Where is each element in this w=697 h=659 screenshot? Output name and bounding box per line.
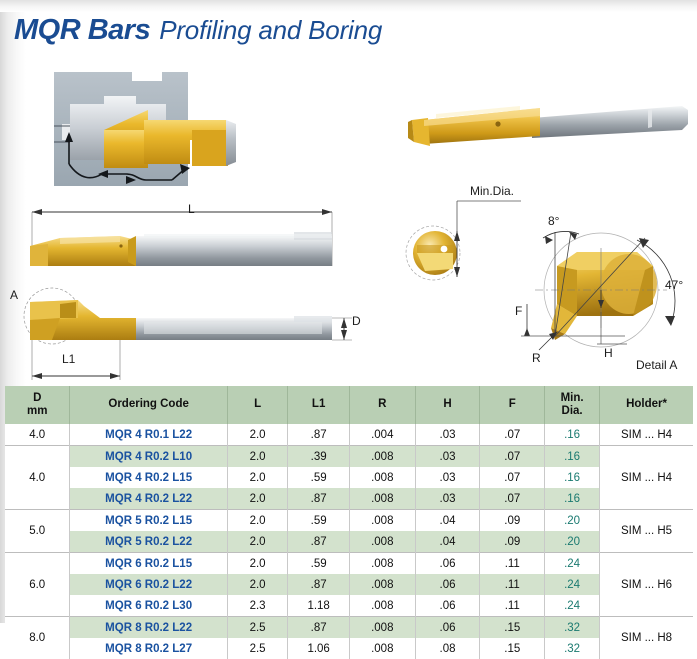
cell-length-l: 2.0 (227, 510, 288, 532)
cell-min-diameter: .24 (545, 574, 600, 595)
bar-3d-render-figure (400, 94, 690, 164)
cell-ordering-code: MQR 4 R0.2 L10 (70, 446, 227, 468)
table-header-cell: Holder* (600, 386, 693, 424)
cell-length-l: 2.0 (227, 446, 288, 468)
specification-table: DmmOrdering CodeLL1RHFMin.Dia.Holder* 4.… (5, 386, 693, 659)
cell-min-diameter: .20 (545, 531, 600, 553)
dimension-label-A: A (10, 288, 18, 302)
cell-radius-r: .008 (349, 553, 415, 575)
cell-min-diameter: .32 (545, 638, 600, 659)
cell-length-l1: .39 (288, 446, 350, 468)
table-row[interactable]: MQR 6 R0.2 L222.0.87.008.06.11.24 (5, 574, 693, 595)
cell-height-h: .06 (415, 574, 480, 595)
workpiece-cross-section-figure (40, 68, 310, 193)
cell-radius-r: .008 (349, 488, 415, 510)
table-header-row: DmmOrdering CodeLL1RHFMin.Dia.Holder* (5, 386, 693, 424)
cell-min-diameter: .24 (545, 595, 600, 617)
cell-radius-r: .008 (349, 595, 415, 617)
cell-radius-r: .008 (349, 617, 415, 639)
table-row[interactable]: MQR 8 R0.2 L272.51.06.008.08.15.32 (5, 638, 693, 659)
cell-length-l1: .87 (288, 531, 350, 553)
cell-length-l1: 1.18 (288, 595, 350, 617)
cell-length-l: 2.0 (227, 574, 288, 595)
angle-label-47deg: 47° (665, 278, 683, 292)
cell-radius-r: .008 (349, 446, 415, 468)
cell-height-h: .06 (415, 617, 480, 639)
dimension-label-R: R (532, 351, 541, 365)
header-text: H (418, 398, 478, 411)
angle-label-8deg: 8° (548, 214, 559, 228)
dimension-label-D: D (352, 314, 361, 328)
table-header-cell: Dmm (5, 386, 70, 424)
cell-radius-r: .008 (349, 574, 415, 595)
header-text: D (7, 392, 67, 405)
cell-ordering-code: MQR 4 R0.1 L22 (70, 424, 227, 446)
cell-height-h: .04 (415, 510, 480, 532)
cell-height-h: .04 (415, 531, 480, 553)
cell-holder: SIM ... H4 (600, 446, 693, 510)
cell-ordering-code: MQR 4 R0.2 L15 (70, 467, 227, 488)
cell-min-diameter: .16 (545, 446, 600, 468)
header-text: Min. (547, 392, 597, 405)
cell-ordering-code: MQR 8 R0.2 L27 (70, 638, 227, 659)
cell-height-h: .03 (415, 467, 480, 488)
cell-holder: SIM ... H4 (600, 424, 693, 446)
cell-length-l1: .87 (288, 424, 350, 446)
cell-length-l1: .87 (288, 617, 350, 639)
cell-f: .07 (480, 424, 545, 446)
specification-table-wrapper: DmmOrdering CodeLL1RHFMin.Dia.Holder* 4.… (5, 386, 693, 659)
cell-min-diameter: .16 (545, 488, 600, 510)
cell-length-l: 2.0 (227, 424, 288, 446)
min-dia-label: Min.Dia. (470, 184, 514, 198)
page-title-subtitle: Profiling and Boring (159, 15, 382, 45)
cell-diameter: 5.0 (5, 510, 70, 553)
cell-ordering-code: MQR 6 R0.2 L15 (70, 553, 227, 575)
table-header-cell: L1 (288, 386, 350, 424)
cell-radius-r: .004 (349, 424, 415, 446)
cell-length-l1: .87 (288, 488, 350, 510)
cell-radius-r: .008 (349, 531, 415, 553)
table-row[interactable]: 8.0MQR 8 R0.2 L222.5.87.008.06.15.32SIM … (5, 617, 693, 639)
cell-f: .09 (480, 510, 545, 532)
cell-f: .15 (480, 638, 545, 659)
cell-f: .07 (480, 446, 545, 468)
cell-ordering-code: MQR 6 R0.2 L22 (70, 574, 227, 595)
table-row[interactable]: 4.0MQR 4 R0.2 L102.0.39.008.03.07.16SIM … (5, 446, 693, 468)
table-header-cell: R (349, 386, 415, 424)
cell-length-l1: 1.06 (288, 638, 350, 659)
cell-length-l: 2.0 (227, 531, 288, 553)
cell-holder: SIM ... H5 (600, 510, 693, 553)
table-row[interactable]: MQR 4 R0.2 L152.0.59.008.03.07.16 (5, 467, 693, 488)
cell-min-diameter: .16 (545, 467, 600, 488)
cell-height-h: .03 (415, 446, 480, 468)
cell-length-l: 2.0 (227, 467, 288, 488)
table-row[interactable]: MQR 6 R0.2 L302.31.18.008.06.11.24 (5, 595, 693, 617)
cell-f: .07 (480, 488, 545, 510)
cell-f: .09 (480, 531, 545, 553)
page-title-main: MQR Bars (14, 14, 150, 46)
cell-radius-r: .008 (349, 638, 415, 659)
table-row[interactable]: 6.0MQR 6 R0.2 L152.0.59.008.06.11.24SIM … (5, 553, 693, 575)
cell-holder: SIM ... H6 (600, 553, 693, 617)
table-row[interactable]: 5.0MQR 5 R0.2 L152.0.59.008.04.09.20SIM … (5, 510, 693, 532)
cell-ordering-code: MQR 8 R0.2 L22 (70, 617, 227, 639)
cell-f: .11 (480, 595, 545, 617)
cell-f: .11 (480, 574, 545, 595)
cell-length-l1: .59 (288, 553, 350, 575)
cell-ordering-code: MQR 5 R0.2 L22 (70, 531, 227, 553)
header-text: R (352, 398, 413, 411)
cell-length-l: 2.3 (227, 595, 288, 617)
page-title: MQR BarsProfiling and Boring (14, 14, 382, 47)
header-text: L1 (290, 398, 347, 411)
cell-height-h: .06 (415, 595, 480, 617)
table-row[interactable]: MQR 5 R0.2 L222.0.87.008.04.09.20 (5, 531, 693, 553)
header-text: L (230, 398, 286, 411)
cell-diameter: 6.0 (5, 553, 70, 617)
dimension-label-L: L (188, 202, 195, 216)
cell-f: .07 (480, 467, 545, 488)
cell-f: .15 (480, 617, 545, 639)
cell-height-h: .06 (415, 553, 480, 575)
cell-ordering-code: MQR 4 R0.2 L22 (70, 488, 227, 510)
table-header-cell: Min.Dia. (545, 386, 600, 424)
cell-ordering-code: MQR 5 R0.2 L15 (70, 510, 227, 532)
cell-height-h: .03 (415, 488, 480, 510)
detail-a-label: Detail A (636, 358, 677, 372)
header-text-secondary: mm (7, 405, 67, 418)
cell-height-h: .08 (415, 638, 480, 659)
technical-drawings-region: L A L1 D (0, 56, 697, 386)
dimension-label-F: F (515, 304, 522, 318)
table-header: DmmOrdering CodeLL1RHFMin.Dia.Holder* (5, 386, 693, 424)
cell-length-l: 2.5 (227, 617, 288, 639)
table-row[interactable]: MQR 4 R0.2 L222.0.87.008.03.07.16 (5, 488, 693, 510)
cell-min-diameter: .16 (545, 424, 600, 446)
cell-diameter: 4.0 (5, 446, 70, 510)
dimension-label-L1: L1 (62, 352, 75, 366)
table-header-cell: L (227, 386, 288, 424)
cell-min-diameter: .24 (545, 553, 600, 575)
header-text: Holder* (602, 398, 691, 411)
table-header-cell: H (415, 386, 480, 424)
cell-min-diameter: .20 (545, 510, 600, 532)
header-text: Ordering Code (72, 398, 224, 411)
table-header-cell: Ordering Code (70, 386, 227, 424)
cell-length-l: 2.0 (227, 488, 288, 510)
header-text-secondary: Dia. (547, 405, 597, 418)
cell-length-l: 2.5 (227, 638, 288, 659)
cell-radius-r: .008 (349, 467, 415, 488)
table-row[interactable]: 4.0MQR 4 R0.1 L222.0.87.004.03.07.16SIM … (5, 424, 693, 446)
cell-min-diameter: .32 (545, 617, 600, 639)
cell-height-h: .03 (415, 424, 480, 446)
cell-f: .11 (480, 553, 545, 575)
cell-length-l: 2.0 (227, 553, 288, 575)
page-edge-shading-top (0, 0, 697, 12)
cell-radius-r: .008 (349, 510, 415, 532)
cell-length-l1: .87 (288, 574, 350, 595)
table-body: 4.0MQR 4 R0.1 L222.0.87.004.03.07.16SIM … (5, 424, 693, 659)
dimension-label-H: H (604, 346, 613, 360)
cell-length-l1: .59 (288, 467, 350, 488)
cell-diameter: 4.0 (5, 424, 70, 446)
table-header-cell: F (480, 386, 545, 424)
cell-ordering-code: MQR 6 R0.2 L30 (70, 595, 227, 617)
cell-length-l1: .59 (288, 510, 350, 532)
bar-side-view-bottom-figure (8, 284, 368, 394)
header-text: F (482, 398, 542, 411)
